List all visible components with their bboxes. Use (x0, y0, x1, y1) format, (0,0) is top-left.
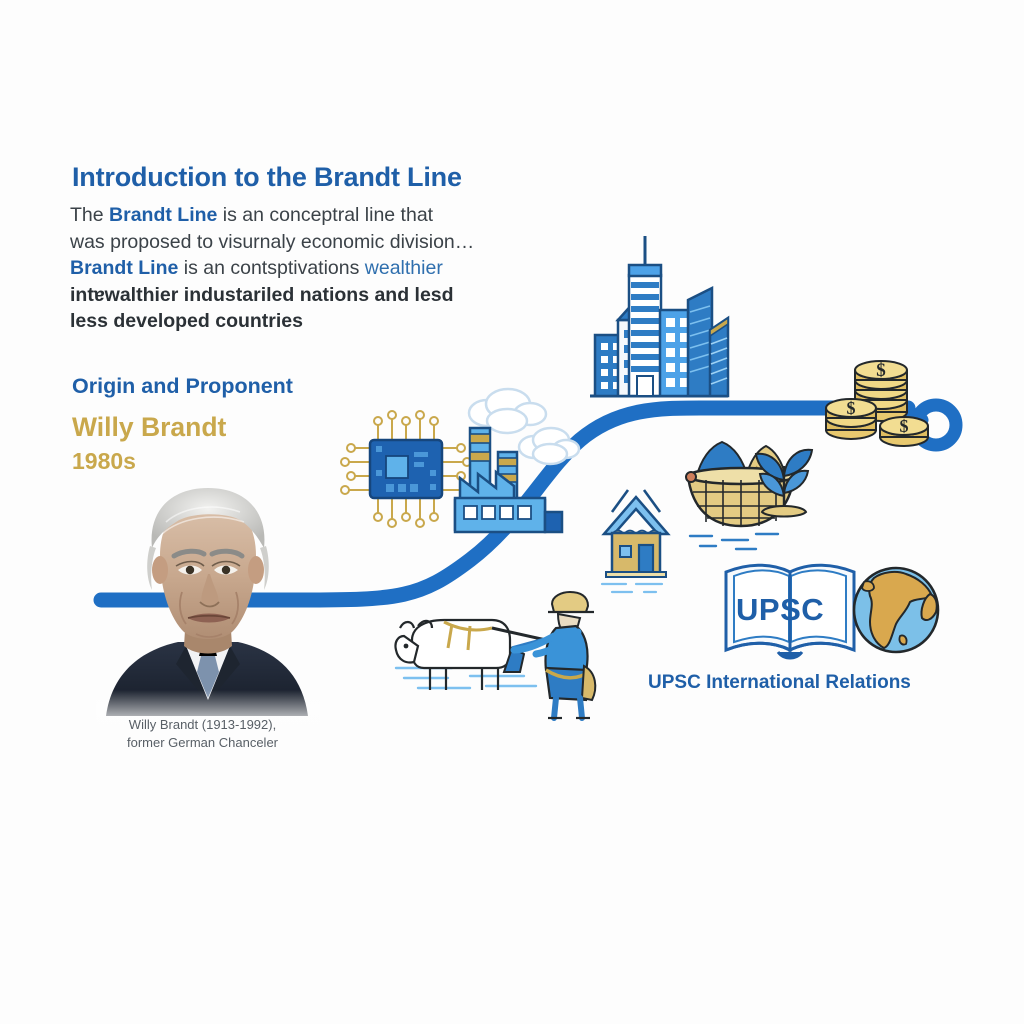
svg-text:$: $ (900, 416, 909, 436)
origin-decade: 1980s (72, 448, 136, 475)
grain-basket-icon (686, 442, 794, 549)
intro-line-4: intɐwalthier industariled nations and le… (70, 282, 540, 309)
factory-icon (455, 389, 579, 532)
intro-paragraph: The Brandt Line is an conceptral line th… (70, 202, 540, 335)
illustration-layer: $ $ $ (0, 0, 1024, 1024)
portrait-caption: Willy Brandt (1913-1992), former German … (60, 716, 345, 752)
intro-line-3: Brandt Line is an contsptivations wealth… (70, 255, 540, 282)
page-title: Introduction to the Brandt Line (72, 162, 462, 193)
upsc-branding-caption: UPSC International Relations (648, 672, 911, 694)
farmer-ox-plough-icon (395, 592, 595, 718)
intro-line-1: The Brandt Line is an conceptral line th… (70, 202, 540, 229)
microchip-icon (341, 411, 471, 527)
portrait-caption-line-2: former German Chanceler (127, 735, 278, 750)
city-skyline-icon (590, 236, 728, 396)
globe-icon (854, 568, 938, 652)
origin-person-name: Willy Brandt (72, 412, 226, 443)
infographic-canvas: $ $ $ (0, 0, 1024, 1024)
portrait-caption-line-1: Willy Brandt (1913-1992), (129, 717, 276, 732)
svg-text:$: $ (847, 398, 856, 418)
hut-icon (602, 490, 668, 592)
intro-line-5: less developed countries (70, 308, 540, 335)
upsc-book-word: UPSC (736, 592, 824, 628)
origin-heading: Origin and Proponent (72, 374, 293, 399)
intro-line-2: was proposed to visurnaly economic divis… (70, 229, 540, 256)
portrait-willy-brandt (96, 488, 320, 730)
svg-text:$: $ (876, 360, 886, 381)
